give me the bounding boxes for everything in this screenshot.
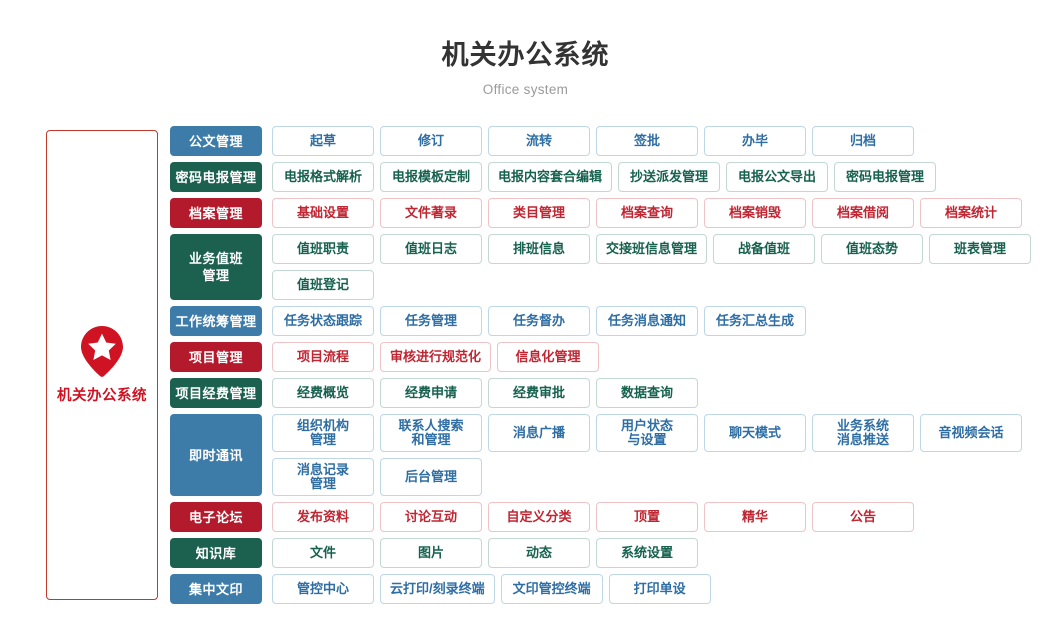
menu-row: 即时通讯组织机构管理联系人搜索和管理消息广播用户状态与设置聊天模式业务系统消息推…: [170, 414, 1050, 496]
category-label-2[interactable]: 档案管理: [170, 198, 262, 228]
category-label-10[interactable]: 集中文印: [170, 574, 262, 604]
menu-item[interactable]: 档案销毁: [704, 198, 806, 228]
logo-wrap: 机关办公系统: [57, 325, 147, 405]
menu-item[interactable]: 值班职责: [272, 234, 374, 264]
menu-item[interactable]: 电报模板定制: [380, 162, 482, 192]
menu-items: 值班职责值班日志排班信息交接班信息管理战备值班值班态势班表管理值班登记: [272, 234, 1050, 300]
menu-item-line: 消息记录: [297, 463, 349, 477]
menu-item[interactable]: 值班登记: [272, 270, 374, 300]
category-label-4[interactable]: 工作统筹管理: [170, 306, 262, 336]
menu-items: 基础设置文件著录类目管理档案查询档案销毁档案借阅档案统计: [272, 198, 1050, 228]
menu-row: 项目经费管理经费概览经费申请经费审批数据查询: [170, 378, 1050, 408]
menu-item-line: 用户状态: [621, 419, 673, 433]
menu-item[interactable]: 打印单设: [609, 574, 711, 604]
menu-item[interactable]: 经费审批: [488, 378, 590, 408]
menu-item[interactable]: 动态: [488, 538, 590, 568]
menu-item[interactable]: 联系人搜索和管理: [380, 414, 482, 452]
menu-item[interactable]: 班表管理: [929, 234, 1031, 264]
category-label-7[interactable]: 即时通讯: [170, 414, 262, 496]
menu-row: 电子论坛发布资料讨论互动自定义分类顶置精华公告: [170, 502, 1050, 532]
menu-item-line: 业务系统: [837, 419, 889, 433]
menu-item[interactable]: 数据查询: [596, 378, 698, 408]
menu-row: 集中文印管控中心云打印/刻录终端文印管控终端打印单设: [170, 574, 1050, 604]
menu-item[interactable]: 后台管理: [380, 458, 482, 496]
menu-item[interactable]: 管控中心: [272, 574, 374, 604]
menu-row: 项目管理项目流程审核进行规范化信息化管理: [170, 342, 1050, 372]
menu-item-line: 联系人搜索: [398, 419, 463, 433]
menu-item[interactable]: 任务管理: [380, 306, 482, 336]
menu-item[interactable]: 电报格式解析: [272, 162, 374, 192]
menu-items: 文件图片动态系统设置: [272, 538, 1050, 568]
category-label-8[interactable]: 电子论坛: [170, 502, 262, 532]
page-header: 机关办公系统 Office system: [0, 0, 1051, 99]
menu-item[interactable]: 抄送派发管理: [618, 162, 720, 192]
menu-item[interactable]: 基础设置: [272, 198, 374, 228]
category-label-line: 管理: [202, 267, 229, 284]
menu-item[interactable]: 文件著录: [380, 198, 482, 228]
menu-item[interactable]: 用户状态与设置: [596, 414, 698, 452]
menu-item[interactable]: 起草: [272, 126, 374, 156]
menu-item[interactable]: 归档: [812, 126, 914, 156]
menu-item[interactable]: 经费概览: [272, 378, 374, 408]
category-label-line: 业务值班: [189, 250, 243, 267]
system-logo-panel: 机关办公系统: [46, 130, 158, 600]
system-map-board: 机关办公系统 公文管理起草修订流转签批办毕归档密码电报管理电报格式解析电报模板定…: [0, 120, 1051, 620]
menu-item-line: 与设置: [627, 433, 666, 447]
menu-item[interactable]: 值班日志: [380, 234, 482, 264]
menu-item[interactable]: 修订: [380, 126, 482, 156]
menu-rows: 公文管理起草修订流转签批办毕归档密码电报管理电报格式解析电报模板定制电报内容套合…: [170, 126, 1050, 610]
menu-item[interactable]: 文件: [272, 538, 374, 568]
menu-item[interactable]: 任务汇总生成: [704, 306, 806, 336]
menu-item[interactable]: 档案借阅: [812, 198, 914, 228]
menu-item[interactable]: 消息广播: [488, 414, 590, 452]
category-label-1[interactable]: 密码电报管理: [170, 162, 262, 192]
category-label-3[interactable]: 业务值班管理: [170, 234, 262, 300]
menu-row: 密码电报管理电报格式解析电报模板定制电报内容套合编辑抄送派发管理电报公文导出密码…: [170, 162, 1050, 192]
menu-items: 管控中心云打印/刻录终端文印管控终端打印单设: [272, 574, 1050, 604]
menu-items: 经费概览经费申请经费审批数据查询: [272, 378, 1050, 408]
menu-items: 任务状态跟踪任务管理任务督办任务消息通知任务汇总生成: [272, 306, 1050, 336]
menu-item[interactable]: 战备值班: [713, 234, 815, 264]
page-subtitle: Office system: [0, 81, 1051, 99]
category-label-5[interactable]: 项目管理: [170, 342, 262, 372]
menu-items: 起草修订流转签批办毕归档: [272, 126, 1050, 156]
menu-item[interactable]: 档案查询: [596, 198, 698, 228]
menu-item-line: 组织机构: [297, 419, 349, 433]
category-label-6[interactable]: 项目经费管理: [170, 378, 262, 408]
menu-item[interactable]: 音视频会话: [920, 414, 1022, 452]
menu-item[interactable]: 审核进行规范化: [380, 342, 491, 372]
menu-item[interactable]: 公告: [812, 502, 914, 532]
category-label-9[interactable]: 知识库: [170, 538, 262, 568]
menu-item[interactable]: 排班信息: [488, 234, 590, 264]
category-label-0[interactable]: 公文管理: [170, 126, 262, 156]
menu-item[interactable]: 电报内容套合编辑: [488, 162, 612, 192]
menu-item-line: 管理: [310, 477, 336, 491]
page-title: 机关办公系统: [0, 38, 1051, 72]
menu-item[interactable]: 档案统计: [920, 198, 1022, 228]
menu-item[interactable]: 流转: [488, 126, 590, 156]
menu-item[interactable]: 聊天模式: [704, 414, 806, 452]
menu-items: 组织机构管理联系人搜索和管理消息广播用户状态与设置聊天模式业务系统消息推送音视频…: [272, 414, 1050, 496]
menu-row: 档案管理基础设置文件著录类目管理档案查询档案销毁档案借阅档案统计: [170, 198, 1050, 228]
menu-item[interactable]: 云打印/刻录终端: [380, 574, 495, 604]
menu-item[interactable]: 系统设置: [596, 538, 698, 568]
menu-item[interactable]: 文印管控终端: [501, 574, 603, 604]
menu-row: 业务值班管理值班职责值班日志排班信息交接班信息管理战备值班值班态势班表管理值班登…: [170, 234, 1050, 300]
menu-items: 项目流程审核进行规范化信息化管理: [272, 342, 1050, 372]
menu-item[interactable]: 自定义分类: [488, 502, 590, 532]
menu-item[interactable]: 业务系统消息推送: [812, 414, 914, 452]
menu-item[interactable]: 任务状态跟踪: [272, 306, 374, 336]
menu-item[interactable]: 顶置: [596, 502, 698, 532]
menu-item[interactable]: 任务消息通知: [596, 306, 698, 336]
menu-item[interactable]: 签批: [596, 126, 698, 156]
menu-row: 公文管理起草修订流转签批办毕归档: [170, 126, 1050, 156]
logo-label: 机关办公系统: [57, 384, 147, 405]
menu-item[interactable]: 组织机构管理: [272, 414, 374, 452]
menu-items: 电报格式解析电报模板定制电报内容套合编辑抄送派发管理电报公文导出密码电报管理: [272, 162, 1050, 192]
menu-item[interactable]: 电报公文导出: [726, 162, 828, 192]
menu-row: 知识库文件图片动态系统设置: [170, 538, 1050, 568]
menu-item-line: 和管理: [411, 433, 450, 447]
menu-item[interactable]: 讨论互动: [380, 502, 482, 532]
menu-items: 发布资料讨论互动自定义分类顶置精华公告: [272, 502, 1050, 532]
menu-item[interactable]: 类目管理: [488, 198, 590, 228]
menu-item[interactable]: 信息化管理: [497, 342, 599, 372]
menu-row: 工作统筹管理任务状态跟踪任务管理任务督办任务消息通知任务汇总生成: [170, 306, 1050, 336]
menu-item[interactable]: 精华: [704, 502, 806, 532]
menu-item[interactable]: 项目流程: [272, 342, 374, 372]
menu-item-line: 消息推送: [837, 433, 889, 447]
menu-item[interactable]: 消息记录管理: [272, 458, 374, 496]
menu-item[interactable]: 密码电报管理: [834, 162, 936, 192]
menu-item[interactable]: 图片: [380, 538, 482, 568]
map-pin-star-icon: [79, 325, 125, 377]
menu-item[interactable]: 交接班信息管理: [596, 234, 707, 264]
menu-item[interactable]: 任务督办: [488, 306, 590, 336]
menu-item[interactable]: 经费申请: [380, 378, 482, 408]
menu-item[interactable]: 办毕: [704, 126, 806, 156]
menu-item-line: 管理: [310, 433, 336, 447]
menu-item[interactable]: 值班态势: [821, 234, 923, 264]
menu-item[interactable]: 发布资料: [272, 502, 374, 532]
